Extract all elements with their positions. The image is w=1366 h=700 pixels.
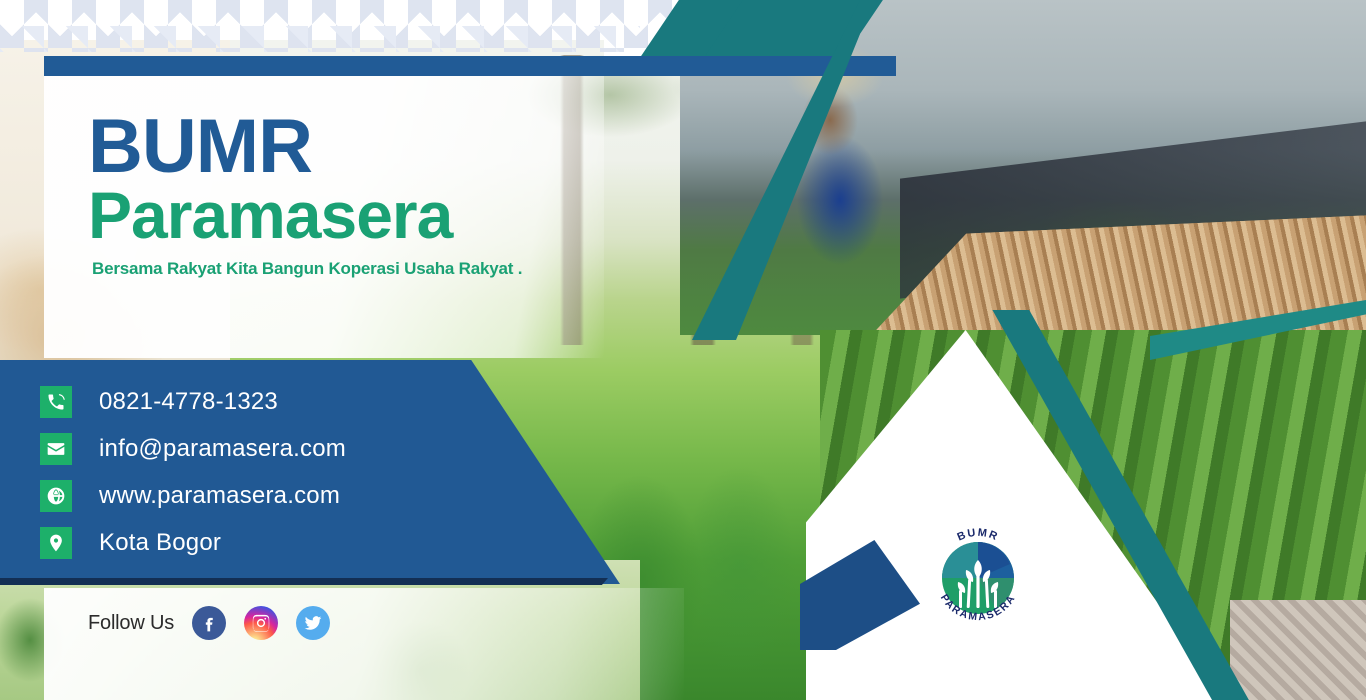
- twitter-icon[interactable]: [296, 606, 330, 640]
- logo-top-text: BUMR: [956, 527, 1001, 544]
- contact-item-email[interactable]: info@paramasera.com: [40, 425, 560, 472]
- contact-value-location: Kota Bogor: [99, 529, 221, 557]
- globe-icon: [40, 480, 72, 512]
- follow-us-block: Follow Us: [88, 606, 330, 640]
- page-subtitle: Paramasera: [88, 182, 608, 249]
- tagline-text: Bersama Rakyat Kita Bangun Koperasi Usah…: [92, 259, 608, 279]
- instagram-icon[interactable]: [244, 606, 278, 640]
- phone-icon: [40, 386, 72, 418]
- triangle-pattern-row-two: [0, 26, 640, 52]
- footer-white-overlay: [44, 588, 684, 700]
- contact-value-phone: 0821-4778-1323: [99, 388, 278, 416]
- svg-text:BUMR: BUMR: [956, 527, 1001, 544]
- bumr-paramasera-logo: BUMR PARAMASERA: [918, 512, 1038, 642]
- contact-item-location[interactable]: Kota Bogor: [40, 519, 560, 566]
- page-title: BUMR: [88, 112, 608, 182]
- headline-block: BUMR Paramasera Bersama Rakyat Kita Bang…: [88, 112, 608, 279]
- follow-us-label: Follow Us: [88, 612, 174, 635]
- contact-item-phone[interactable]: 0821-4778-1323: [40, 378, 560, 425]
- seeds-inset-photo: [1230, 600, 1366, 700]
- contact-list: 0821-4778-1323 info@paramasera.com www.p…: [40, 378, 560, 566]
- facebook-icon[interactable]: [192, 606, 226, 640]
- contact-item-website[interactable]: www.paramasera.com: [40, 472, 560, 519]
- contact-value-email: info@paramasera.com: [99, 435, 346, 463]
- location-pin-icon: [40, 527, 72, 559]
- email-icon: [40, 433, 72, 465]
- blue-header-bar: [44, 56, 896, 76]
- contact-value-website: www.paramasera.com: [99, 482, 340, 510]
- contact-panel-shadow: [0, 578, 608, 585]
- promotional-banner: BUMR Paramasera Bersama Rakyat Kita Bang…: [0, 0, 1366, 700]
